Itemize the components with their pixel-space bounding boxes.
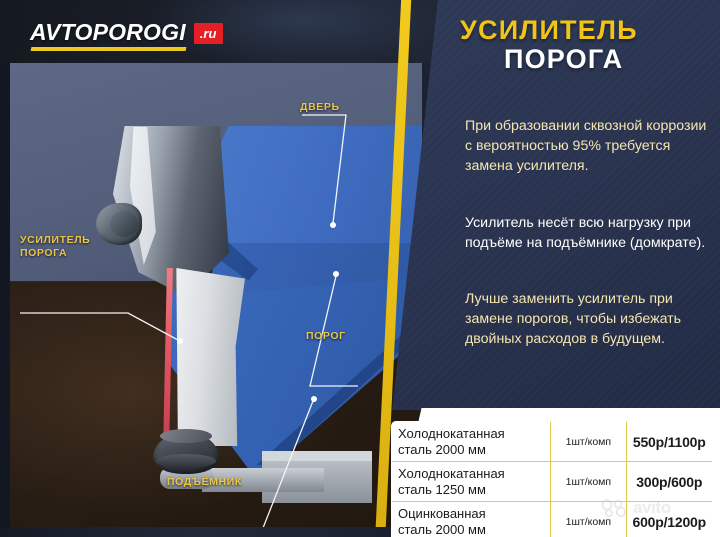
- table-row: Холоднокатанная сталь 1250 мм 1шт/комп 3…: [392, 462, 713, 502]
- door-hinge-pin: [110, 211, 138, 237]
- table-row: Холоднокатанная сталь 2000 мм 1шт/комп 5…: [392, 422, 713, 462]
- promo-banner: AVTOPOROGI .ru: [0, 0, 720, 537]
- lift-arm-block-top: [262, 451, 372, 461]
- panel-title: УСИЛИТЕЛЬ ПОРОГА: [460, 16, 710, 74]
- price-row-qty: 1шт/комп: [551, 462, 626, 502]
- callout-label-reinforcement: УСИЛИТЕЛЬ ПОРОГА: [20, 234, 90, 260]
- panel-title-line2: ПОРОГА: [504, 45, 710, 74]
- brand-logo-underline: [31, 47, 187, 51]
- callout-label-lift: ПОДЪЁМНИК: [167, 476, 242, 488]
- price-row-qty: 1шт/комп: [551, 502, 626, 537]
- price-row-price: 600р/1200р: [626, 502, 713, 537]
- illustration-left-edge: [0, 63, 10, 527]
- price-row-qty: 1шт/комп: [551, 422, 626, 462]
- price-row-name: Холоднокатанная сталь 1250 мм: [392, 462, 551, 502]
- price-row-name-line2: сталь 2000 мм: [398, 442, 544, 458]
- brand-logo-word: AVTOPOROGI: [30, 19, 186, 49]
- panel-paragraph-3: Лучше заменить усилитель при замене поро…: [465, 289, 711, 349]
- price-row-name: Холоднокатанная сталь 2000 мм: [392, 422, 551, 462]
- panel-paragraph-2: Усилитель несёт всю нагрузку при подъёме…: [465, 213, 711, 253]
- table-row: Оцинкованная сталь 2000 мм 1шт/комп 600р…: [392, 502, 713, 537]
- lift-pad-top: [160, 429, 212, 443]
- callout-label-reinforcement-line1: УСИЛИТЕЛЬ: [20, 234, 90, 247]
- panel-paragraph-1: При образовании сквозной коррозии с веро…: [465, 116, 711, 176]
- panel-title-line1: УСИЛИТЕЛЬ: [460, 16, 710, 45]
- price-row-name-line2: сталь 2000 мм: [398, 522, 544, 537]
- price-row-price: 300р/600р: [626, 462, 713, 502]
- price-row-name-line1: Холоднокатанная: [398, 426, 544, 442]
- brand-logo[interactable]: AVTOPOROGI .ru: [30, 19, 223, 49]
- price-row-name-line1: Оцинкованная: [398, 506, 544, 522]
- callout-label-door: ДВЕРЬ: [300, 101, 340, 113]
- price-row-name-line1: Холоднокатанная: [398, 466, 544, 482]
- price-table: Холоднокатанная сталь 2000 мм 1шт/комп 5…: [391, 421, 713, 537]
- price-row-price: 550р/1100р: [626, 422, 713, 462]
- callout-label-reinforcement-line2: ПОРОГА: [20, 247, 90, 260]
- price-row-name-line2: сталь 1250 мм: [398, 482, 544, 498]
- sill-reinforcement-plate: [167, 268, 245, 446]
- lift-pad-ring: [156, 454, 216, 468]
- bottom-dark-strip: [0, 527, 392, 537]
- brand-logo-tld: .ru: [194, 23, 224, 44]
- callout-label-sill: ПОРОГ: [306, 330, 346, 342]
- brand-logo-text: AVTOPOROGI: [30, 19, 186, 45]
- illustration: [10, 63, 422, 527]
- price-row-name: Оцинкованная сталь 2000 мм: [392, 502, 551, 537]
